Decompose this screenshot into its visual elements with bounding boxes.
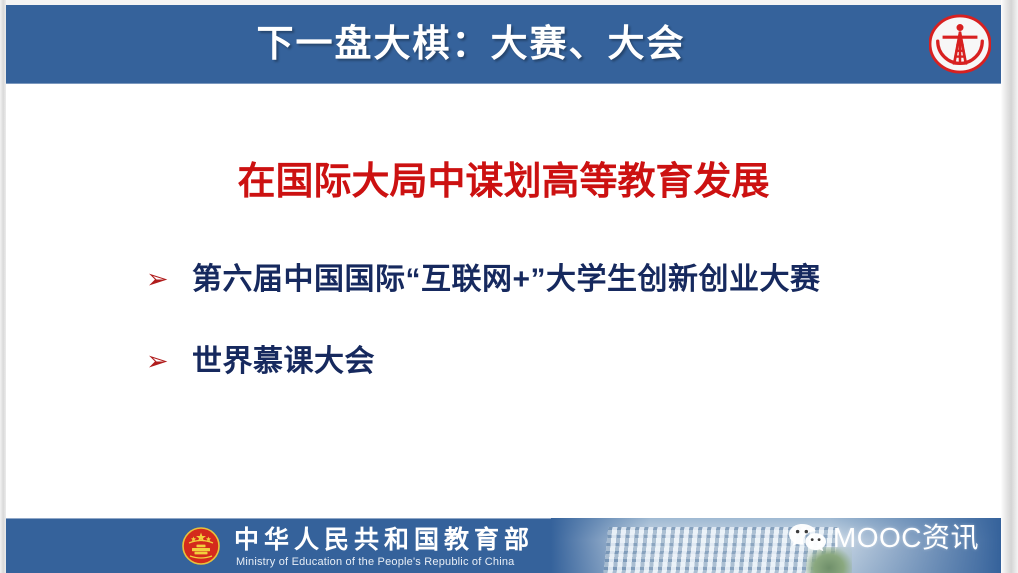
slide-body: 在国际大局中谋划高等教育发展 ➢ 第六届中国国际“互联网+”大学生创新创业大赛 … [6, 84, 1001, 518]
bullet-text: 世界慕课大会 [192, 342, 986, 382]
content-heading: 在国际大局中谋划高等教育发展 [6, 157, 1001, 207]
list-item: ➢ 世界慕课大会 [146, 342, 986, 382]
slide-title: 下一盘大棋：大赛、大会 [6, 18, 936, 70]
wechat-icon [787, 521, 827, 555]
red-oval-tower-logo [929, 13, 991, 75]
slide-footer-band: 中华人民共和国教育部 Ministry of Education of the … [6, 518, 1001, 573]
arrow-bullet-icon: ➢ [146, 342, 192, 382]
viewer-right-scrollbar[interactable] [1001, 0, 1018, 573]
arrow-bullet-icon: ➢ [146, 260, 192, 300]
bullet-list: ➢ 第六届中国国际“互联网+”大学生创新创业大赛 ➢ 世界慕课大会 [146, 260, 986, 424]
wechat-watermark: MOOC资讯 [787, 521, 979, 555]
ministry-name-en: Ministry of Education of the People's Re… [236, 556, 514, 569]
china-national-emblem [181, 526, 221, 566]
bullet-text: 第六届中国国际“互联网+”大学生创新创业大赛 [192, 260, 986, 300]
wechat-account-label: MOOC资讯 [833, 521, 979, 555]
list-item: ➢ 第六届中国国际“互联网+”大学生创新创业大赛 [146, 260, 986, 300]
presentation-slide: 下一盘大棋：大赛、大会 在国际大局中谋划高等教 [6, 5, 1001, 573]
slide-header-banner: 下一盘大棋：大赛、大会 [6, 5, 1001, 84]
ministry-name-cn: 中华人民共和国教育部 [234, 526, 534, 554]
slide-viewer: 下一盘大棋：大赛、大会 在国际大局中谋划高等教 [0, 0, 1018, 573]
